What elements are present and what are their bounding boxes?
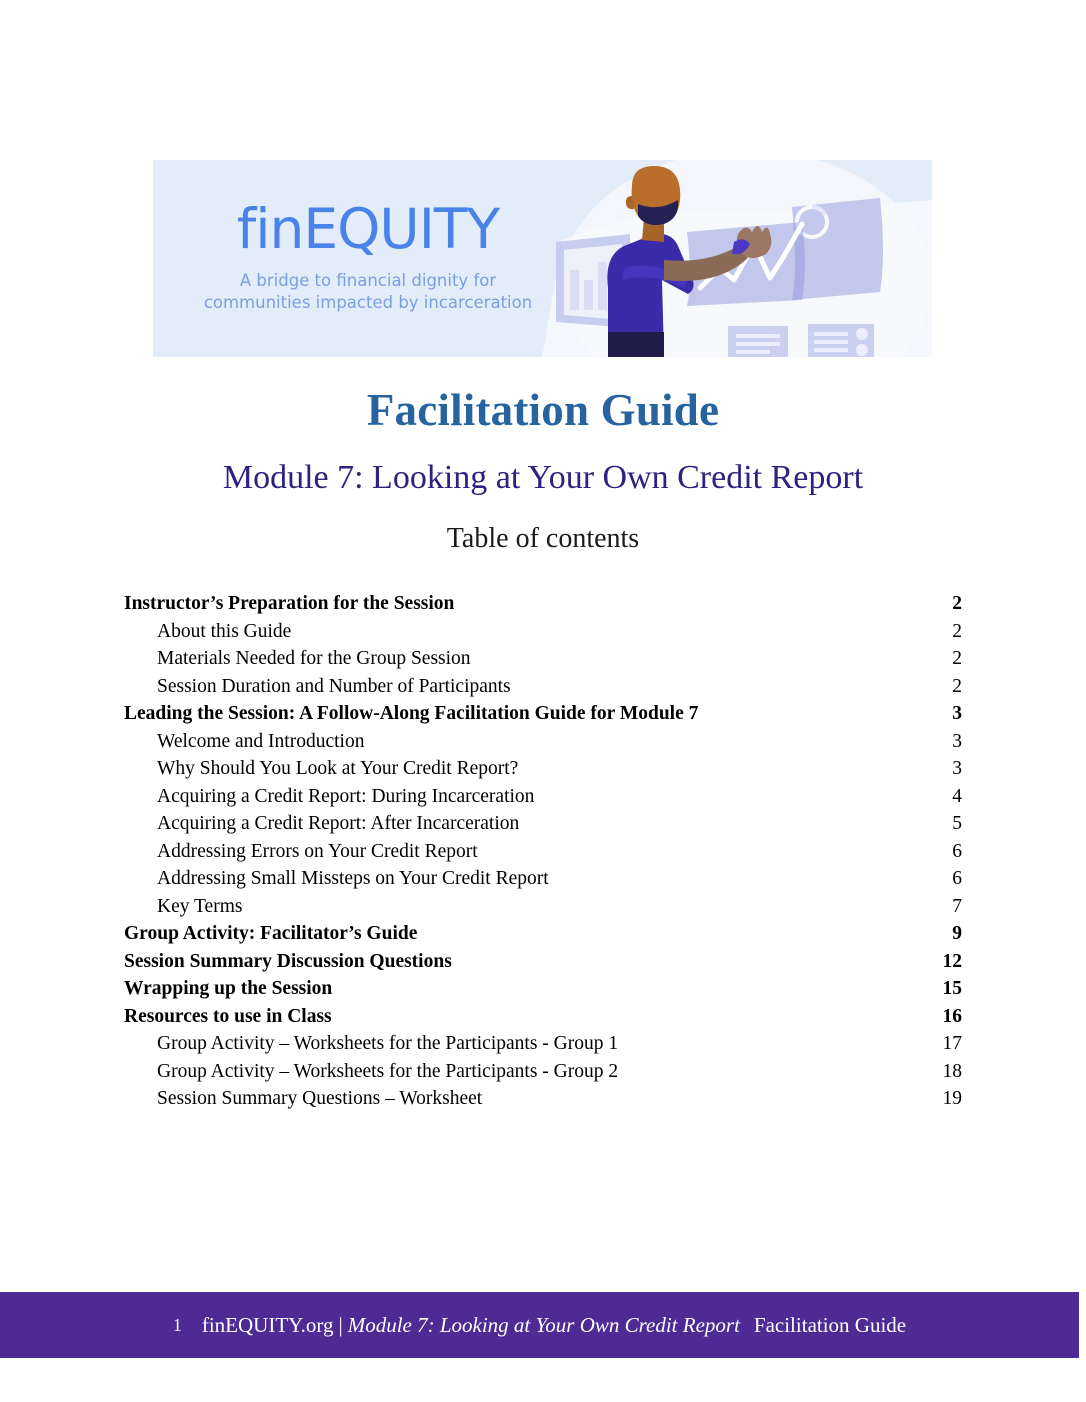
logo-wordmark: finEQUITY — [198, 198, 538, 260]
toc-entry-label: Acquiring a Credit Report: After Incarce… — [124, 813, 519, 835]
header-banner: finEQUITY A bridge to financial dignity … — [153, 160, 932, 357]
toc-entry-label: Why Should You Look at Your Credit Repor… — [124, 758, 518, 780]
toc-entry-label: Group Activity – Worksheets for the Part… — [124, 1033, 618, 1055]
footer-module-title: Module 7: Looking at Your Own Credit Rep… — [348, 1313, 740, 1338]
toc-entry-label: Materials Needed for the Group Session — [124, 648, 471, 670]
toc-heading: Table of contents — [0, 523, 1086, 555]
toc-entry-page-number: 15 — [936, 978, 962, 1000]
toc-entry-label: Welcome and Introduction — [124, 731, 364, 753]
finequity-logo: finEQUITY A bridge to financial dignity … — [198, 198, 538, 314]
toc-entry[interactable]: Acquiring a Credit Report: During Incarc… — [124, 786, 962, 814]
toc-entry-page-number: 17 — [936, 1033, 962, 1055]
toc-entry-label: Group Activity: Facilitator’s Guide — [124, 923, 417, 945]
toc-entry[interactable]: Leading the Session: A Follow-Along Faci… — [124, 703, 962, 731]
footer-doc-type: Facilitation Guide — [754, 1313, 906, 1338]
toc-entry[interactable]: Acquiring a Credit Report: After Incarce… — [124, 813, 962, 841]
toc-entry[interactable]: Wrapping up the Session15 — [124, 978, 962, 1006]
footer-page-number: 1 — [173, 1315, 182, 1336]
footer: 1 finEQUITY.org | Module 7: Looking at Y… — [0, 1292, 1079, 1358]
toc-entry-page-number: 2 — [936, 676, 962, 698]
toc-entry[interactable]: Session Summary Questions – Worksheet19 — [124, 1088, 962, 1116]
page-title: Facilitation Guide — [0, 384, 1086, 436]
toc-entry-page-number: 16 — [936, 1006, 962, 1028]
toc-entry[interactable]: About this Guide2 — [124, 621, 962, 649]
toc-entry[interactable]: Why Should You Look at Your Credit Repor… — [124, 758, 962, 786]
toc-entry-label: Addressing Errors on Your Credit Report — [124, 841, 478, 863]
footer-separator: | — [338, 1313, 342, 1338]
toc-entry-label: Acquiring a Credit Report: During Incarc… — [124, 786, 534, 808]
toc-entry[interactable]: Session Summary Discussion Questions12 — [124, 951, 962, 979]
toc-entry-label: Addressing Small Missteps on Your Credit… — [124, 868, 549, 890]
logo-tagline: A bridge to financial dignity for commun… — [198, 270, 538, 314]
toc-entry-page-number: 2 — [936, 621, 962, 643]
toc-entry-label: About this Guide — [124, 621, 291, 643]
toc-entry-page-number: 9 — [936, 923, 962, 945]
toc-entry-page-number: 5 — [936, 813, 962, 835]
toc-entry-label: Key Terms — [124, 896, 242, 918]
page-subtitle: Module 7: Looking at Your Own Credit Rep… — [0, 459, 1086, 497]
toc-entry-label: Group Activity – Worksheets for the Part… — [124, 1061, 618, 1083]
toc-entry-page-number: 18 — [936, 1061, 962, 1083]
table-of-contents: Instructor’s Preparation for the Session… — [124, 593, 962, 1116]
toc-entry-page-number: 6 — [936, 868, 962, 890]
toc-entry[interactable]: Session Duration and Number of Participa… — [124, 676, 962, 704]
footer-site: finEQUITY.org — [202, 1313, 334, 1338]
toc-entry[interactable]: Addressing Errors on Your Credit Report6 — [124, 841, 962, 869]
toc-entry[interactable]: Welcome and Introduction3 — [124, 731, 962, 759]
toc-entry[interactable]: Group Activity – Worksheets for the Part… — [124, 1061, 962, 1089]
toc-entry-page-number: 3 — [936, 731, 962, 753]
logo-tagline-line1: A bridge to financial dignity for — [198, 270, 538, 292]
toc-entry[interactable]: Materials Needed for the Group Session2 — [124, 648, 962, 676]
toc-entry-label: Instructor’s Preparation for the Session — [124, 593, 454, 615]
toc-entry-label: Leading the Session: A Follow-Along Faci… — [124, 703, 698, 725]
toc-entry-label: Wrapping up the Session — [124, 978, 332, 1000]
toc-entry[interactable]: Addressing Small Missteps on Your Credit… — [124, 868, 962, 896]
banner-inner: finEQUITY A bridge to financial dignity … — [153, 160, 932, 357]
toc-entry[interactable]: Instructor’s Preparation for the Session… — [124, 593, 962, 621]
toc-entry[interactable]: Resources to use in Class16 — [124, 1006, 962, 1034]
toc-entry-page-number: 3 — [936, 703, 962, 725]
toc-entry-label: Session Duration and Number of Participa… — [124, 676, 511, 698]
logo-tagline-line2: communities impacted by incarceration — [198, 292, 538, 314]
toc-entry[interactable]: Key Terms7 — [124, 896, 962, 924]
toc-entry-page-number: 2 — [936, 648, 962, 670]
toc-entry-page-number: 3 — [936, 758, 962, 780]
toc-entry-page-number: 12 — [936, 951, 962, 973]
banner-illustration — [512, 160, 932, 357]
toc-entry[interactable]: Group Activity – Worksheets for the Part… — [124, 1033, 962, 1061]
toc-entry-label: Session Summary Questions – Worksheet — [124, 1088, 482, 1110]
toc-entry-page-number: 4 — [936, 786, 962, 808]
toc-entry-page-number: 7 — [936, 896, 962, 918]
toc-entry-label: Resources to use in Class — [124, 1006, 332, 1028]
toc-entry-page-number: 2 — [936, 593, 962, 615]
toc-entry-page-number: 19 — [936, 1088, 962, 1110]
toc-entry[interactable]: Group Activity: Facilitator’s Guide9 — [124, 923, 962, 951]
toc-entry-label: Session Summary Discussion Questions — [124, 951, 452, 973]
toc-entry-page-number: 6 — [936, 841, 962, 863]
